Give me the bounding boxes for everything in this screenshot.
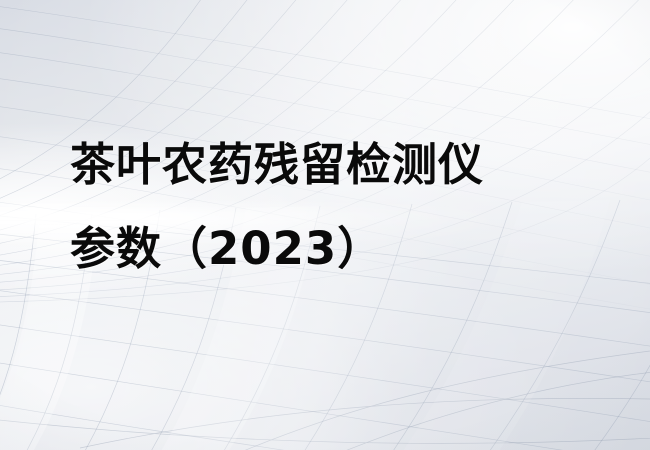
banner-title: 茶叶农药残留检测仪 参数（2023）	[70, 123, 590, 291]
title-line-2: 参数（2023）	[70, 207, 590, 291]
title-line-1: 茶叶农药残留检测仪	[70, 123, 590, 207]
title-banner: 茶叶农药残留检测仪 参数（2023）	[0, 0, 650, 450]
